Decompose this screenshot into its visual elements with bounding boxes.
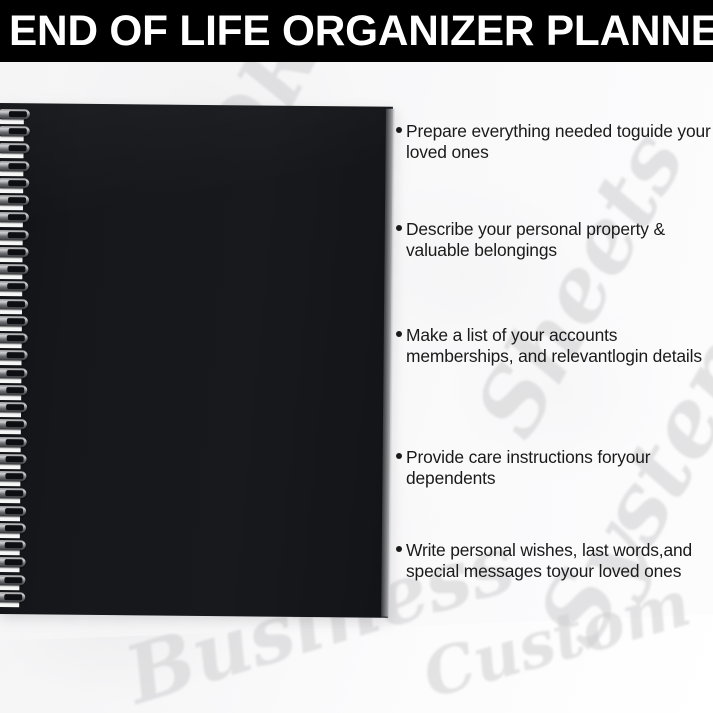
spiral-gap	[0, 516, 20, 521]
spiral-coil	[0, 385, 27, 395]
spiral-gap	[0, 429, 21, 434]
spiral-gap	[0, 447, 21, 452]
list-item-label: Describe your personal property & valuab…	[396, 219, 713, 261]
spiral-notebook-image	[0, 103, 394, 621]
list-item: Provide care instructions foryour depend…	[396, 447, 713, 489]
product-listing-image: CORA Sheets System Business Custom END O…	[0, 0, 713, 713]
spiral-gap	[0, 378, 21, 383]
spiral-coil	[0, 454, 27, 464]
bullet-dot-icon	[396, 225, 402, 231]
bullet-dot-icon	[396, 127, 402, 133]
spiral-gap	[0, 309, 22, 314]
bullet-dot-icon	[396, 453, 402, 459]
spiral-gap	[0, 567, 20, 572]
spiral-coil	[0, 368, 27, 378]
spiral-gap	[0, 498, 20, 503]
spiral-coil	[0, 592, 25, 602]
spiral-coil	[0, 299, 28, 309]
spiral-coil	[0, 161, 29, 171]
spiral-gap	[0, 412, 21, 417]
list-item-label: Prepare everything needed toguide your l…	[396, 121, 713, 163]
spiral-coil	[0, 350, 28, 360]
spiral-coil	[0, 471, 26, 481]
spiral-coil	[0, 230, 29, 240]
bullet-dot-icon	[396, 331, 402, 337]
spiral-gap	[0, 360, 22, 365]
spiral-binding-icon	[0, 109, 36, 614]
list-item: Prepare everything needed toguide your l…	[396, 121, 713, 163]
spiral-gap	[0, 257, 23, 262]
spiral-coil	[0, 402, 27, 412]
spiral-gap	[0, 188, 23, 193]
spiral-coil	[0, 178, 29, 188]
spiral-coil	[0, 247, 29, 257]
spiral-gap	[0, 326, 22, 331]
spiral-gap	[0, 343, 22, 348]
spiral-coil	[0, 419, 27, 429]
spiral-coil	[0, 333, 28, 343]
spiral-coil	[0, 109, 30, 119]
list-item: Describe your personal property & valuab…	[396, 219, 713, 261]
bullet-dot-icon	[396, 546, 402, 552]
spiral-coil	[0, 574, 25, 584]
spiral-coil	[0, 557, 26, 567]
spiral-gap	[0, 240, 23, 245]
spiral-coil	[0, 437, 27, 447]
spiral-gap	[0, 291, 22, 296]
spiral-gap	[0, 171, 23, 176]
spiral-coil	[0, 316, 28, 326]
spiral-gap	[0, 153, 24, 158]
spiral-coil	[0, 143, 30, 153]
list-item: Make a list of your accounts memberships…	[396, 325, 713, 367]
spiral-coil	[0, 540, 26, 550]
spiral-coil	[0, 212, 29, 222]
spiral-coil	[0, 488, 26, 498]
spiral-gap	[0, 395, 21, 400]
spiral-gap	[0, 464, 21, 469]
spiral-gap	[0, 119, 24, 124]
spiral-gap	[0, 602, 19, 607]
list-item: Write personal wishes, last words,and sp…	[396, 540, 713, 582]
spiral-gap	[0, 584, 19, 589]
spiral-gap	[0, 222, 23, 227]
spiral-coil	[0, 264, 28, 274]
feature-list: Prepare everything needed toguide your l…	[392, 62, 713, 713]
spiral-coil	[0, 523, 26, 533]
notebook-cover	[0, 103, 393, 618]
spiral-coil	[0, 506, 26, 516]
spiral-gap	[0, 274, 22, 279]
spiral-coil	[0, 126, 30, 136]
spiral-coil	[0, 281, 28, 291]
header-banner: END OF LIFE ORGANIZER PLANNER	[0, 0, 713, 62]
spiral-gap	[0, 136, 24, 141]
list-item-label: Make a list of your accounts memberships…	[396, 325, 713, 367]
spiral-gap	[0, 481, 20, 486]
spiral-coil	[0, 195, 29, 205]
page-title: END OF LIFE ORGANIZER PLANNER	[9, 6, 699, 56]
list-item-label: Write personal wishes, last words,and sp…	[396, 540, 713, 582]
spiral-gap	[0, 550, 20, 555]
list-item-label: Provide care instructions foryour depend…	[396, 447, 713, 489]
spiral-gap	[0, 205, 23, 210]
spiral-gap	[0, 533, 20, 538]
